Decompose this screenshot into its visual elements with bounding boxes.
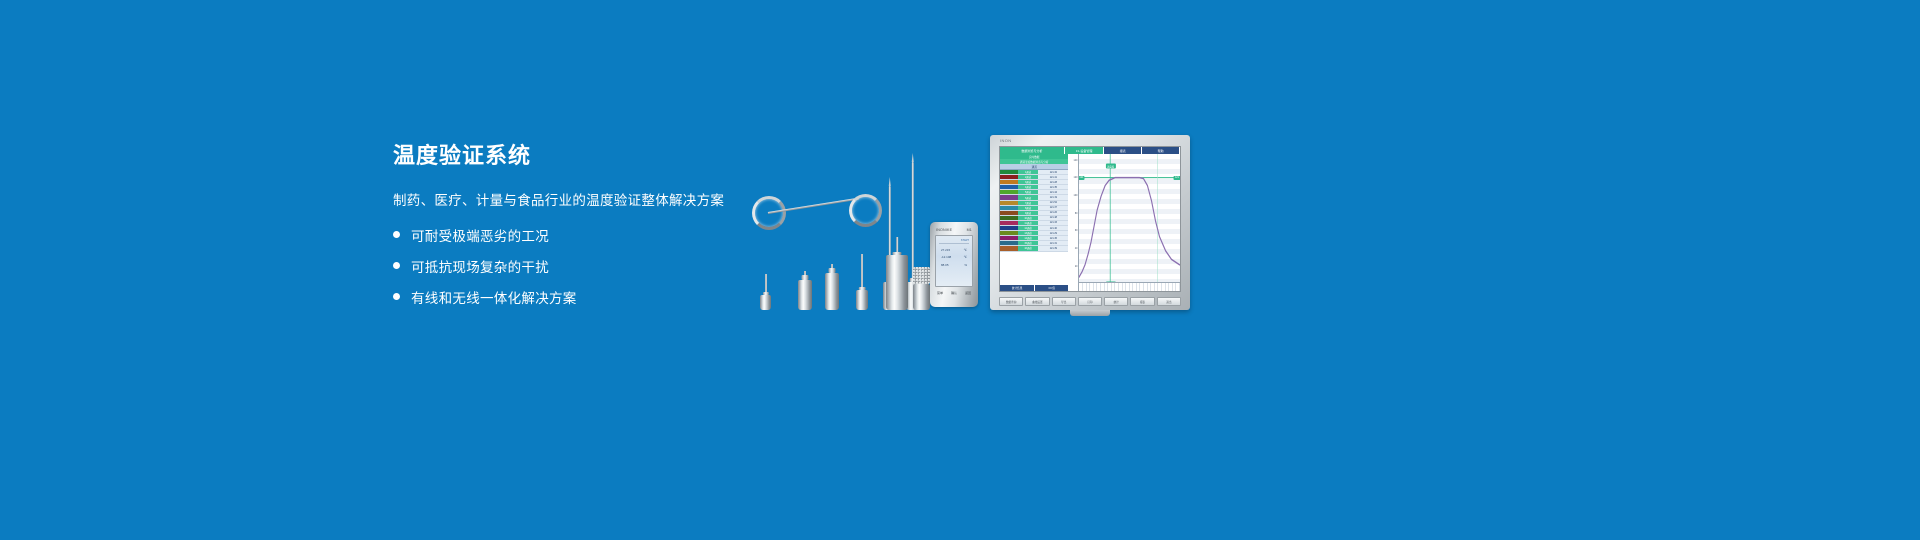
channel-name: 10通道 bbox=[1018, 216, 1039, 220]
hero-banner: 温度验证系统 制药、医疗、计量与食品行业的温度验证整体解决方案 可耐受极端恶劣的… bbox=[0, 0, 1920, 540]
bullet-dot-icon bbox=[393, 262, 400, 269]
bullet-dot-icon bbox=[393, 293, 400, 300]
chart-svg bbox=[1079, 154, 1180, 291]
x-axis-tick bbox=[1176, 283, 1180, 291]
channel-name: 16通道 bbox=[1018, 246, 1039, 250]
handheld-brand: INONIKE bbox=[936, 228, 952, 232]
short-logger-1 bbox=[798, 272, 812, 310]
stats-button[interactable]: 统计结果 bbox=[1000, 285, 1034, 291]
chart-y-axis: 14012010080604020 bbox=[1068, 154, 1079, 291]
channel-color-swatch bbox=[1000, 221, 1018, 225]
channel-color-swatch bbox=[1000, 226, 1018, 230]
mesh-logger bbox=[913, 266, 930, 310]
chart-marker-left[interactable]: 121 bbox=[1079, 176, 1085, 180]
channel-name: 1通道 bbox=[1018, 170, 1039, 174]
toolbar-button[interactable]: 打印 bbox=[1078, 297, 1102, 306]
channel-color-swatch bbox=[1000, 190, 1018, 194]
channel-name: 13通道 bbox=[1018, 231, 1039, 235]
bullet-label: 有线和无线一体化解决方案 bbox=[411, 287, 577, 307]
channel-value: 121.32 bbox=[1038, 170, 1068, 174]
channel-name: 9通道 bbox=[1018, 211, 1039, 215]
handheld-device[interactable]: INONIKE M1 START 27.215 ℃ -12.108 ℃ 88.0… bbox=[930, 222, 978, 307]
bullet-label: 可耐受极端恶劣的工况 bbox=[411, 225, 549, 245]
channel-color-swatch bbox=[1000, 211, 1018, 215]
channel-value: 121.40 bbox=[1038, 226, 1068, 230]
tab-data-analysis[interactable]: 数据浏览与分析 bbox=[1000, 147, 1065, 154]
chart-marker-top[interactable]: 灭菌段 bbox=[1105, 164, 1115, 169]
y-axis-tick: 60 bbox=[1075, 230, 1078, 232]
channel-value: 121.39 bbox=[1038, 246, 1068, 250]
product-photo-group: INONIKE M1 START 27.215 ℃ -12.108 ℃ 88.0… bbox=[710, 120, 1230, 310]
channel-color-swatch bbox=[1000, 231, 1018, 235]
channel-value: 121.44 bbox=[1038, 190, 1068, 194]
mesh-filter-icon bbox=[913, 267, 930, 284]
y-axis-tick: 140 bbox=[1074, 160, 1078, 162]
channel-color-swatch bbox=[1000, 246, 1018, 250]
handheld-reading-unit: ℃ bbox=[964, 255, 967, 259]
handheld-back-button[interactable]: 返回 bbox=[965, 291, 971, 295]
handheld-model: M1 bbox=[967, 228, 972, 232]
handheld-button-row[interactable]: 菜单 确认 返回 bbox=[935, 287, 973, 295]
monitor-brand: INON bbox=[1000, 138, 1012, 143]
handheld-screen[interactable]: START 27.215 ℃ -12.108 ℃ 88.05 % bbox=[935, 235, 973, 287]
channel-value: 121.37 bbox=[1038, 206, 1068, 210]
channel-color-swatch bbox=[1000, 180, 1018, 184]
channel-value: 121.48 bbox=[1038, 216, 1068, 220]
channel-value: 121.19 bbox=[1038, 195, 1068, 199]
channel-value: 121.26 bbox=[1038, 211, 1068, 215]
channel-color-swatch bbox=[1000, 201, 1018, 205]
channel-value: 121.31 bbox=[1038, 241, 1068, 245]
short-logger-2 bbox=[825, 264, 839, 310]
toolbar-button[interactable]: 数据查询 bbox=[999, 297, 1023, 306]
tab-report[interactable]: 报表 bbox=[1104, 147, 1142, 154]
handheld-reading-value: -12.108 bbox=[941, 255, 951, 259]
toolbar-button[interactable]: 统计 bbox=[1104, 297, 1128, 306]
monitor-bezel: INON 数据浏览与分析 F1-设备管理 报表 帮助 实时数据 通道温度数据浏览… bbox=[990, 135, 1190, 310]
chart-plot-area[interactable]: 灭菌段 121 121 降温段 bbox=[1079, 154, 1180, 291]
channel-color-swatch bbox=[1000, 206, 1018, 210]
channel-color-swatch bbox=[1000, 170, 1018, 174]
channel-color-swatch bbox=[1000, 236, 1018, 240]
coil-probe-1 bbox=[760, 274, 771, 310]
channel-color-swatch bbox=[1000, 185, 1018, 189]
handheld-reading-row: 88.05 % bbox=[939, 259, 969, 267]
monitor-device: INON 数据浏览与分析 F1-设备管理 报表 帮助 实时数据 通道温度数据浏览… bbox=[990, 135, 1190, 310]
channel-color-swatch bbox=[1000, 175, 1018, 179]
software-toolbar[interactable]: 数据查询曲线设置导出打印统计报表退出 bbox=[999, 297, 1181, 306]
y-axis-tick: 120 bbox=[1074, 177, 1078, 179]
handheld-reading-value: 88.05 bbox=[941, 263, 949, 267]
table-row[interactable]: 16通道121.39 bbox=[1000, 246, 1068, 251]
channel-name: 15通道 bbox=[1018, 241, 1039, 245]
coil-probe-2 bbox=[856, 264, 868, 310]
tab-device-manager[interactable]: F1-设备管理 bbox=[1065, 147, 1105, 154]
software-tab-bar[interactable]: 数据浏览与分析 F1-设备管理 报表 帮助 bbox=[1000, 147, 1180, 154]
toolbar-button[interactable]: 退出 bbox=[1157, 297, 1181, 306]
coil-probe-ring-2 bbox=[849, 194, 882, 227]
table-row-container[interactable]: 1通道121.322通道121.413通道121.284通道121.355通道1… bbox=[1000, 170, 1068, 285]
handheld-brand-row: INONIKE M1 bbox=[935, 228, 973, 235]
toolbar-button[interactable]: 导出 bbox=[1052, 297, 1076, 306]
temperature-chart[interactable]: 14012010080604020 灭菌段 121 1 bbox=[1068, 154, 1180, 291]
channel-name: 4通道 bbox=[1018, 185, 1039, 189]
channel-value: 121.28 bbox=[1038, 180, 1068, 184]
channel-value: 121.41 bbox=[1038, 175, 1068, 179]
bullet-label: 可抵抗现场复杂的干扰 bbox=[411, 256, 549, 276]
channel-value: 121.33 bbox=[1038, 221, 1068, 225]
chart-x-axis bbox=[1079, 282, 1180, 291]
y-axis-tick: 20 bbox=[1075, 266, 1078, 268]
bullet-dot-icon bbox=[393, 231, 400, 238]
channel-name: 12通道 bbox=[1018, 226, 1039, 230]
handheld-reading-row: 27.215 ℃ bbox=[939, 244, 969, 252]
channel-name: 14通道 bbox=[1018, 236, 1039, 240]
f0-button[interactable]: F0 值 bbox=[1034, 285, 1068, 291]
monitor-stand bbox=[1070, 310, 1110, 316]
channel-table[interactable]: 实时数据 通道温度数据浏览与分析 通道 1通道121.322通道121.413通… bbox=[1000, 154, 1068, 291]
monitor-screen[interactable]: 数据浏览与分析 F1-设备管理 报表 帮助 实时数据 通道温度数据浏览与分析 通… bbox=[999, 146, 1181, 292]
handheld-reading-unit: % bbox=[964, 263, 967, 267]
handheld-reading-unit: ℃ bbox=[964, 248, 967, 252]
channel-value: 121.52 bbox=[1038, 201, 1068, 205]
channel-name: 5通道 bbox=[1018, 190, 1039, 194]
channel-value: 121.29 bbox=[1038, 231, 1068, 235]
table-footer[interactable]: 统计结果 F0 值 bbox=[1000, 285, 1068, 291]
channel-value: 121.45 bbox=[1038, 236, 1068, 240]
software-body: 实时数据 通道温度数据浏览与分析 通道 1通道121.322通道121.413通… bbox=[1000, 154, 1180, 291]
channel-name: 6通道 bbox=[1018, 195, 1039, 199]
channel-name: 11通道 bbox=[1018, 221, 1039, 225]
handheld-confirm-button[interactable]: 确认 bbox=[951, 291, 957, 295]
channel-value: 121.35 bbox=[1038, 185, 1068, 189]
y-axis-tick: 80 bbox=[1075, 213, 1078, 215]
channel-name: 2通道 bbox=[1018, 175, 1039, 179]
chart-marker-right[interactable]: 121 bbox=[1173, 176, 1180, 180]
channel-color-swatch bbox=[1000, 241, 1018, 245]
channel-name: 8通道 bbox=[1018, 206, 1039, 210]
channel-name: 7通道 bbox=[1018, 201, 1039, 205]
tab-help[interactable]: 帮助 bbox=[1142, 147, 1180, 154]
y-axis-tick: 100 bbox=[1074, 195, 1078, 197]
handheld-reading-value: 27.215 bbox=[941, 248, 950, 252]
toolbar-button[interactable]: 曲线设置 bbox=[1025, 297, 1049, 306]
channel-name: 3通道 bbox=[1018, 180, 1039, 184]
handheld-reading-row: -12.108 ℃ bbox=[939, 252, 969, 260]
toolbar-button[interactable]: 报表 bbox=[1130, 297, 1154, 306]
logger-cylinder-tall bbox=[886, 240, 908, 310]
channel-color-swatch bbox=[1000, 195, 1018, 199]
y-axis-tick: 40 bbox=[1075, 248, 1078, 250]
channel-color-swatch bbox=[1000, 216, 1018, 220]
handheld-menu-button[interactable]: 菜单 bbox=[937, 291, 943, 295]
